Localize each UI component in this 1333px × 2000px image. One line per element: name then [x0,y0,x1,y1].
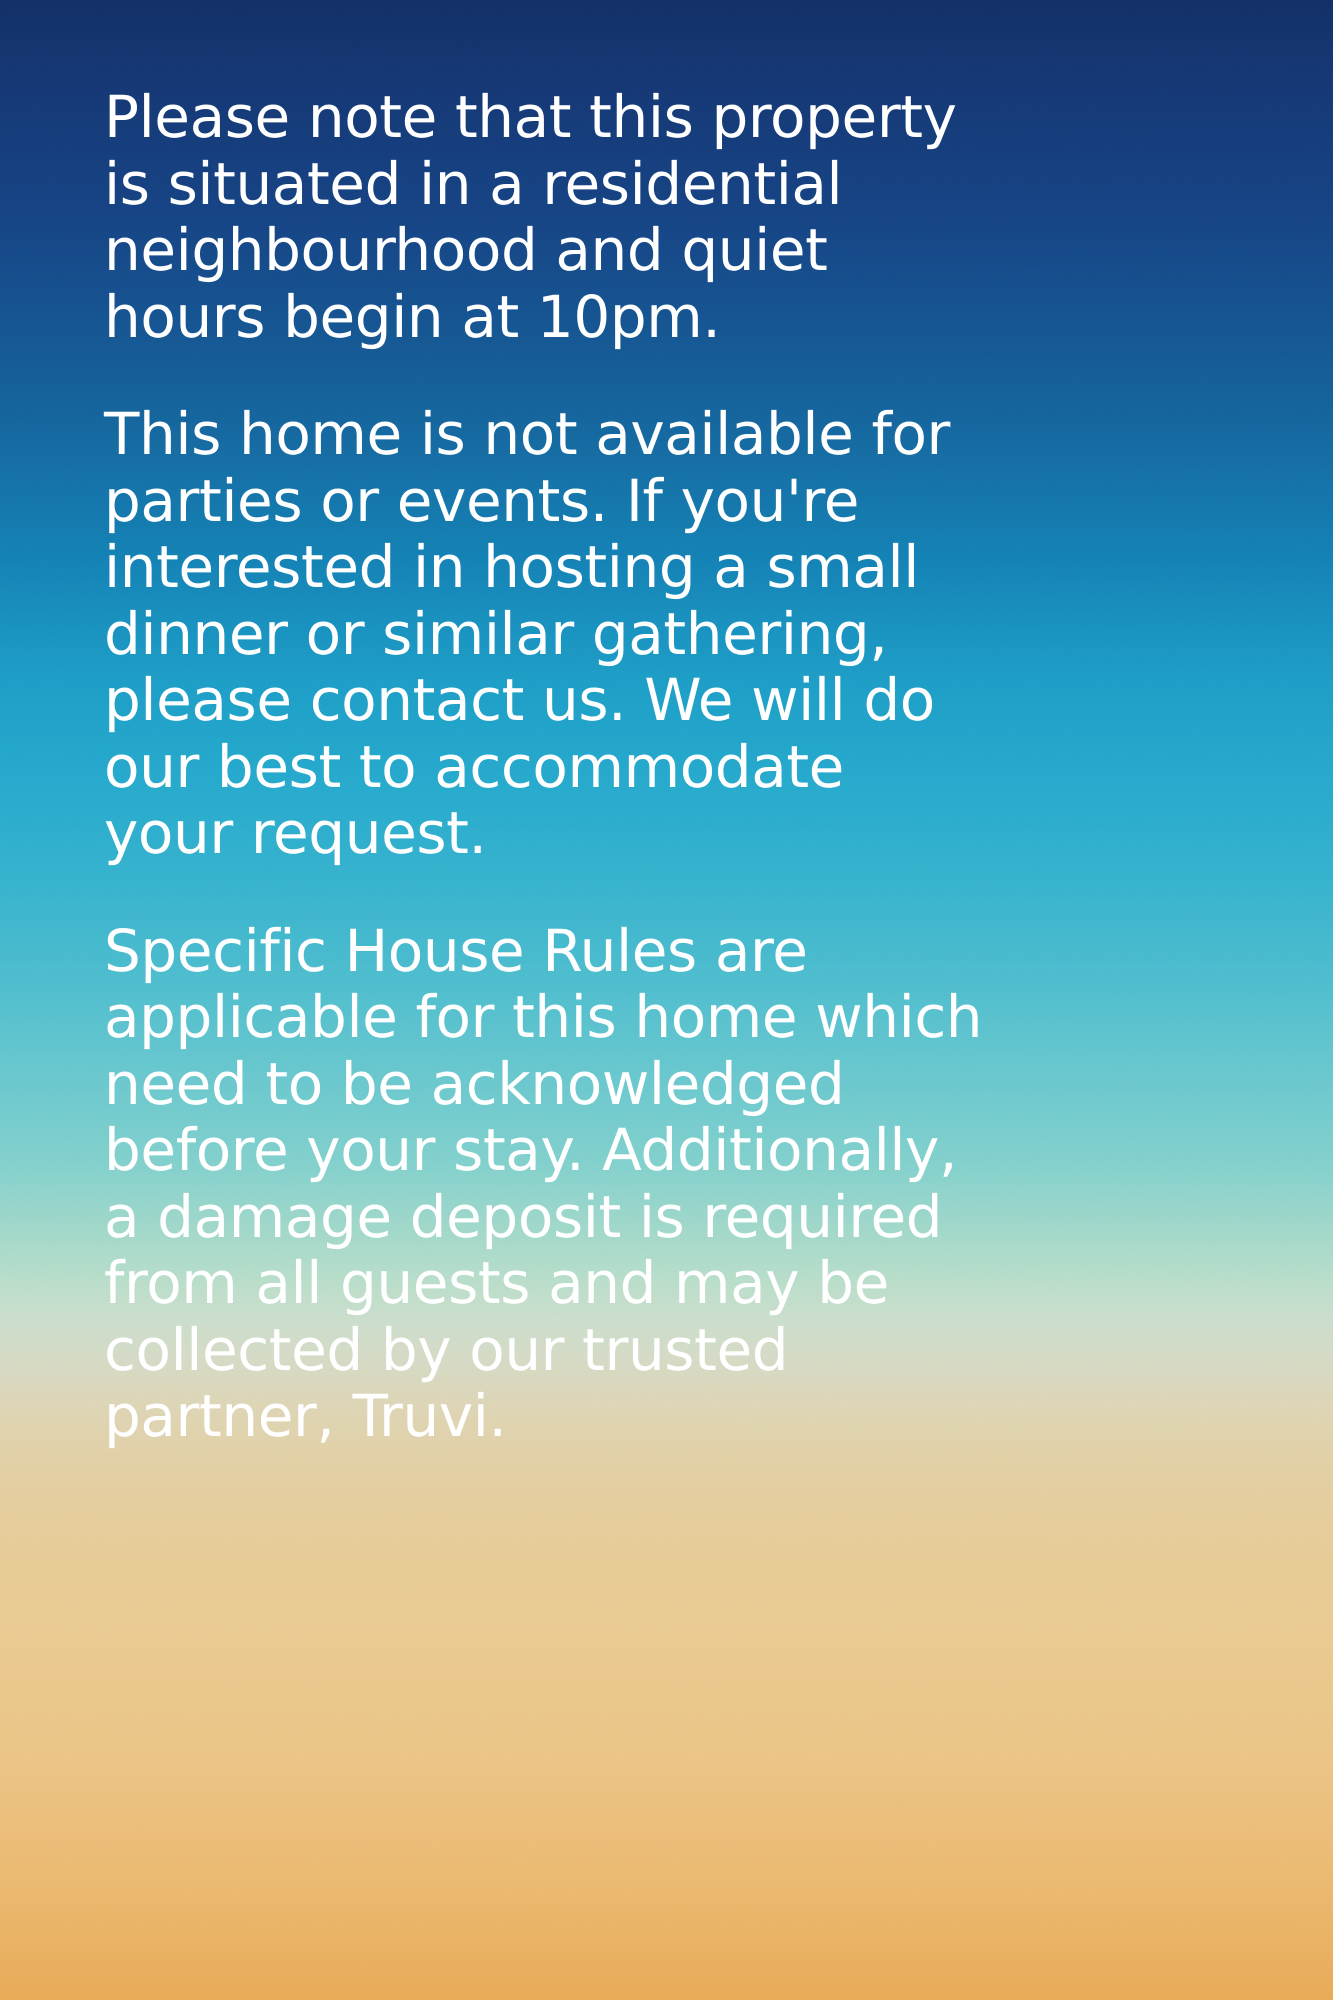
paragraph-house-rules-deposit: Specific House Rules are applicable for … [104,918,984,1450]
paragraph-no-parties: This home is not available for parties o… [104,401,984,867]
paragraph-quiet-hours: Please note that this property is situat… [104,84,984,350]
notice-text-block: Please note that this property is situat… [104,84,984,1450]
house-rules-poster: Please note that this property is situat… [0,0,1333,2000]
